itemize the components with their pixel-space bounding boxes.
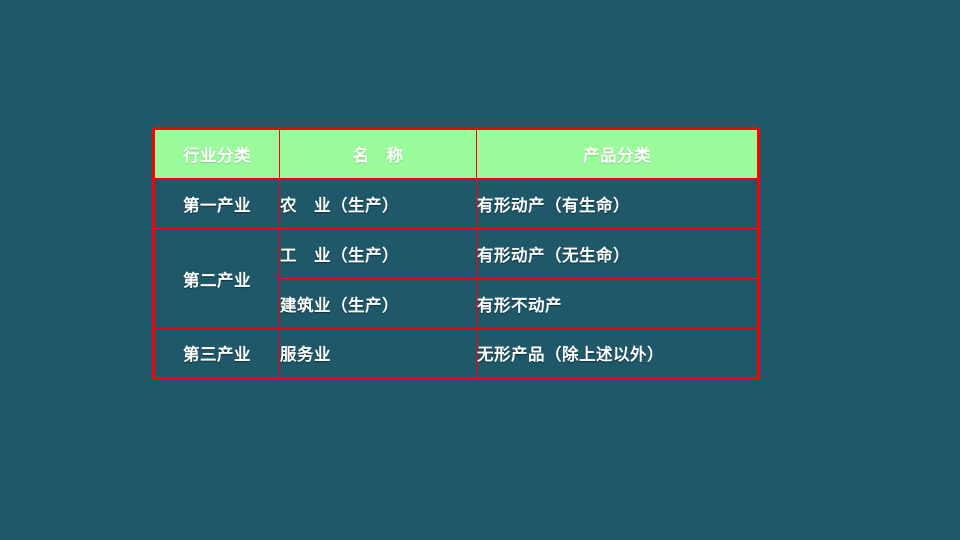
- cell-name-construction: 建筑业（生产）: [280, 279, 477, 329]
- column-header-sector: 行业分类: [154, 129, 280, 179]
- table-row: 第三产业 服务业 无形产品（除上述以外）: [154, 329, 759, 379]
- cell-name-service: 服务业: [280, 329, 477, 379]
- cell-sector-secondary: 第二产业: [154, 229, 280, 329]
- table-row: 第一产业 农 业（生产） 有形动产（有生命）: [154, 179, 759, 229]
- table-row: 第二产业 工 业（生产） 有形动产（无生命）: [154, 229, 759, 279]
- cell-name-agriculture: 农 业（生产）: [280, 179, 477, 229]
- cell-product-intangible: 无形产品（除上述以外）: [477, 329, 759, 379]
- cell-product-tangible-movable-nonliving: 有形动产（无生命）: [477, 229, 759, 279]
- cell-product-tangible-immovable: 有形不动产: [477, 279, 759, 329]
- table-body: 第一产业 农 业（生产） 有形动产（有生命） 第二产业 工 业（生产） 有形动产…: [154, 179, 759, 379]
- column-header-product: 产品分类: [477, 129, 759, 179]
- cell-sector-tertiary: 第三产业: [154, 329, 280, 379]
- classification-table-container: 行业分类 名 称 产品分类 第一产业 农 业（生产） 有形动产（有生命） 第二产…: [152, 127, 757, 377]
- cell-product-tangible-movable-living: 有形动产（有生命）: [477, 179, 759, 229]
- industry-classification-table: 行业分类 名 称 产品分类 第一产业 农 业（生产） 有形动产（有生命） 第二产…: [152, 127, 760, 380]
- table-header-row: 行业分类 名 称 产品分类: [154, 129, 759, 179]
- cell-name-industry: 工 业（生产）: [280, 229, 477, 279]
- cell-sector-primary: 第一产业: [154, 179, 280, 229]
- column-header-name: 名 称: [280, 129, 477, 179]
- table-header: 行业分类 名 称 产品分类: [154, 129, 759, 179]
- slide-canvas: 行业分类 名 称 产品分类 第一产业 农 业（生产） 有形动产（有生命） 第二产…: [0, 0, 960, 540]
